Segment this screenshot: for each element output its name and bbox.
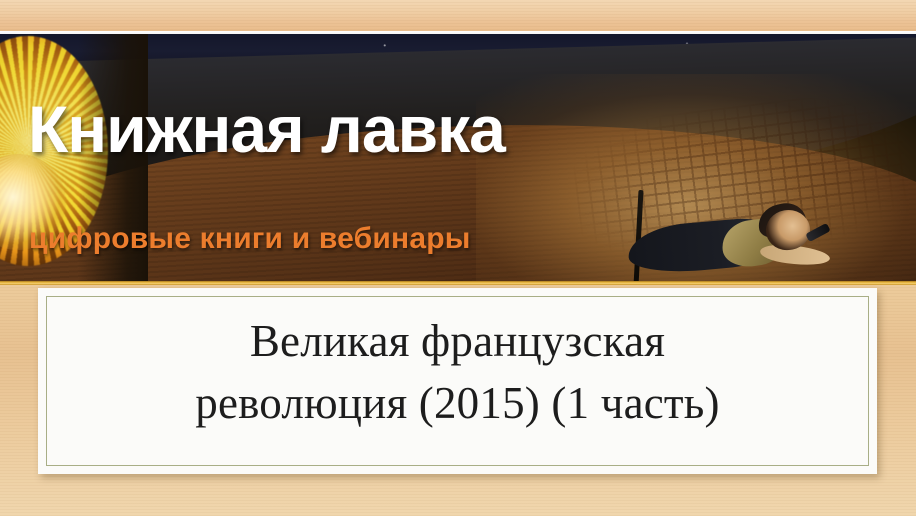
banner-title: Книжная лавка xyxy=(28,96,505,162)
top-wood-strip xyxy=(0,0,916,31)
card-title-line-1: Великая французская xyxy=(38,310,877,372)
slide-canvas: Книжная лавка цифровые книги и вебинары … xyxy=(0,0,916,516)
banner-subtitle: цифровые книги и вебинары xyxy=(29,224,471,254)
card-text-block: Великая французская революция (2015) (1 … xyxy=(38,310,877,434)
header-banner: Книжная лавка цифровые книги и вебинары xyxy=(0,34,916,283)
card-title-line-2: революция (2015) (1 часть) xyxy=(38,372,877,434)
title-card: Великая французская революция (2015) (1 … xyxy=(38,288,877,474)
